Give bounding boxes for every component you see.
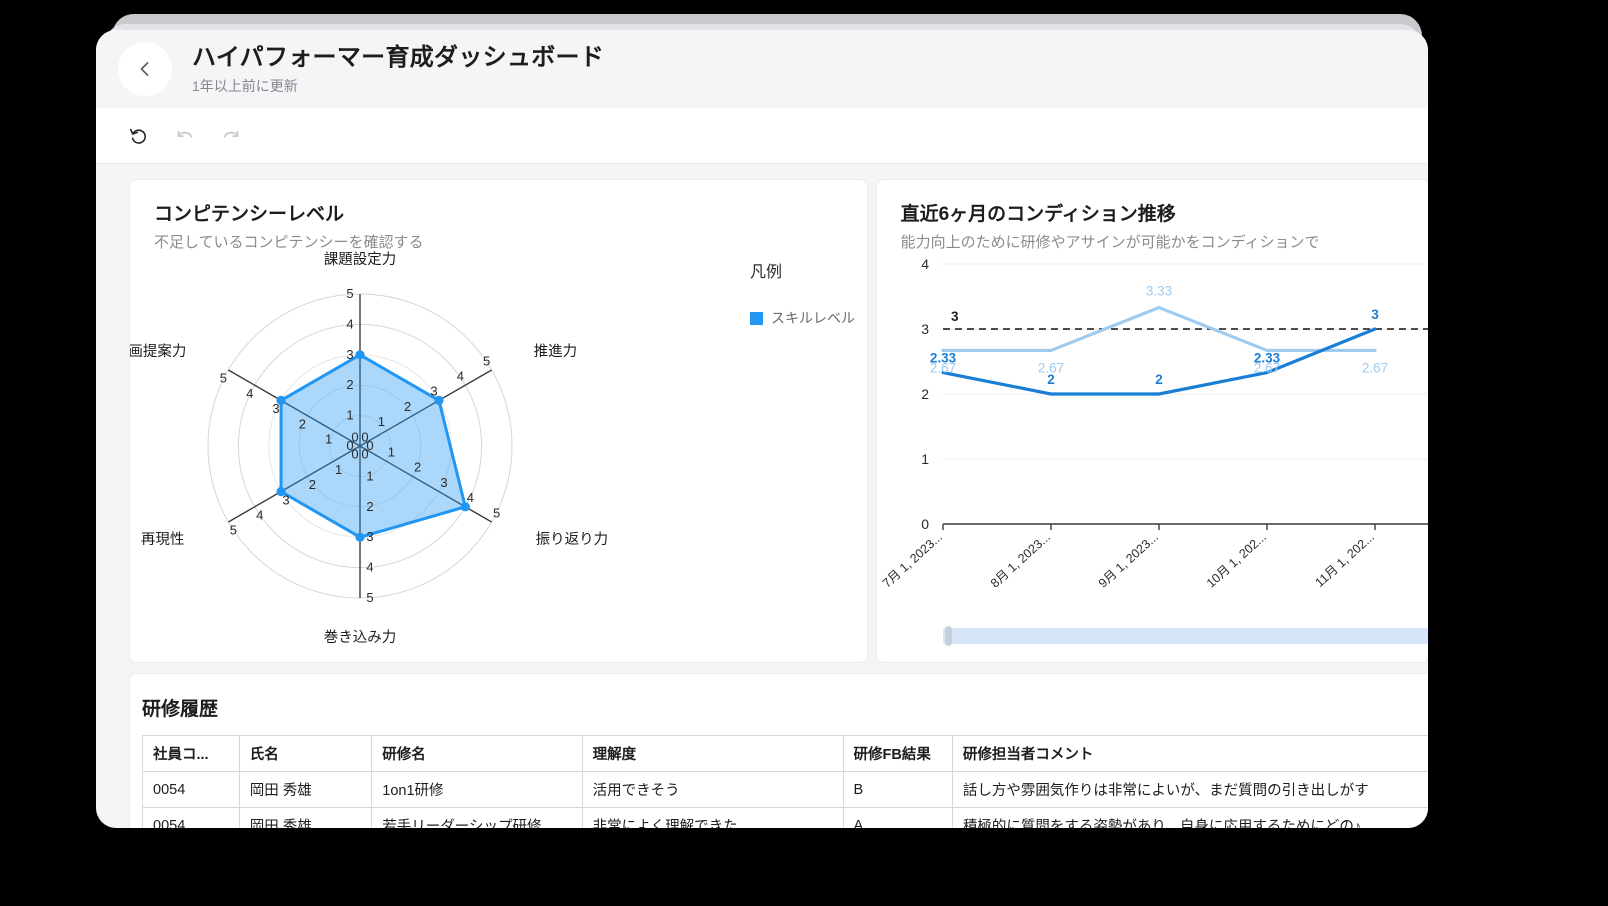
svg-text:3.33: 3.33 xyxy=(1145,284,1171,299)
radar-legend: 凡例 スキルレベル xyxy=(750,258,880,328)
editor-toolbar xyxy=(96,108,1428,164)
svg-text:2: 2 xyxy=(309,477,316,492)
table-body: 0054岡田 秀雄1on1研修活用できそうB話し方や雰囲気作りは非常によいが、ま… xyxy=(143,772,1429,829)
svg-text:振り返り力: 振り返り力 xyxy=(536,531,609,548)
svg-text:4: 4 xyxy=(256,507,263,522)
svg-text:5: 5 xyxy=(230,523,237,538)
table-header-cell-5[interactable]: 研修担当者コメント xyxy=(952,736,1428,772)
charts-row: コンピテンシーレベル 不足しているコンピテンシーを確認する 0123450123… xyxy=(130,180,1428,662)
table-cell: 積極的に質問をする姿勢があり、自身に応用するためにどの♪ xyxy=(952,808,1428,829)
competency-radar-card: コンピテンシーレベル 不足しているコンピテンシーを確認する 0123450123… xyxy=(130,180,867,662)
training-history-table: 社員コ...氏名研修名理解度研修FB結果研修担当者コメント 0054岡田 秀雄1… xyxy=(142,735,1428,828)
svg-text:1: 1 xyxy=(366,468,373,483)
svg-text:課題設定力: 課題設定力 xyxy=(324,251,397,268)
svg-text:5: 5 xyxy=(493,505,500,520)
legend-item-skill-level[interactable]: スキルレベル xyxy=(750,308,880,328)
svg-text:1: 1 xyxy=(325,431,332,446)
svg-text:1: 1 xyxy=(388,445,395,460)
svg-text:4: 4 xyxy=(346,316,353,331)
svg-text:3: 3 xyxy=(282,492,289,507)
svg-text:1: 1 xyxy=(346,408,353,423)
table-head: 社員コ...氏名研修名理解度研修FB結果研修担当者コメント xyxy=(143,736,1429,772)
radar-chart[interactable]: 012345012345012345012345012345012345課題設定… xyxy=(130,246,750,646)
line-chart[interactable]: 0123432.672.673.332.672.672.33222.3337月 … xyxy=(877,252,1428,662)
table-header-row: 社員コ...氏名研修名理解度研修FB結果研修担当者コメント xyxy=(143,736,1429,772)
table-header-cell-0[interactable]: 社員コ... xyxy=(143,736,240,772)
svg-text:8月 1, 2023...: 8月 1, 2023... xyxy=(987,530,1052,591)
svg-text:0: 0 xyxy=(361,447,368,462)
table-cell: B xyxy=(843,772,952,808)
svg-text:3: 3 xyxy=(430,384,437,399)
svg-text:2: 2 xyxy=(414,460,421,475)
table-card-title: 研修履歴 xyxy=(130,694,1428,735)
svg-text:巻き込み力: 巻き込み力 xyxy=(324,629,397,646)
table-cell: 1on1研修 xyxy=(372,772,582,808)
svg-text:4: 4 xyxy=(921,256,929,272)
reset-button[interactable] xyxy=(126,123,152,149)
table-cell: 若手リーダーシップ研修 xyxy=(372,808,582,829)
chevron-left-icon xyxy=(135,59,155,79)
undo-button[interactable] xyxy=(172,123,198,149)
table-header-cell-4[interactable]: 研修FB結果 xyxy=(843,736,952,772)
svg-text:4: 4 xyxy=(366,560,373,575)
svg-text:3: 3 xyxy=(272,401,279,416)
svg-text:2: 2 xyxy=(1155,372,1163,387)
table-cell: 0054 xyxy=(143,808,240,829)
svg-text:3: 3 xyxy=(1371,307,1379,322)
table-cell: 話し方や雰囲気作りは非常によいが、まだ質問の引き出しがす xyxy=(952,772,1428,808)
svg-text:1: 1 xyxy=(378,414,385,429)
line-card-subtitle: 能力向上のために研修やアサインが可能かをコンディションで xyxy=(877,228,1428,254)
redo-arrow-icon xyxy=(220,125,242,147)
svg-text:5: 5 xyxy=(483,353,490,368)
svg-text:推進力: 推進力 xyxy=(534,343,578,360)
training-history-card: 研修履歴 社員コ...氏名研修名理解度研修FB結果研修担当者コメント 0054岡… xyxy=(130,674,1428,828)
svg-text:0: 0 xyxy=(921,516,929,532)
svg-text:2: 2 xyxy=(921,386,929,402)
svg-text:2.33: 2.33 xyxy=(929,351,956,366)
svg-text:4: 4 xyxy=(246,386,253,401)
time-range-slider[interactable] xyxy=(943,628,1428,644)
svg-text:1: 1 xyxy=(335,462,342,477)
radar-svg: 012345012345012345012345012345012345課題設定… xyxy=(130,246,750,646)
dashboard-body: コンピテンシーレベル 不足しているコンピテンシーを確認する 0123450123… xyxy=(96,164,1428,828)
svg-text:2: 2 xyxy=(299,416,306,431)
table-row[interactable]: 0054岡田 秀雄若手リーダーシップ研修非常によく理解できたA積極的に質問をする… xyxy=(143,808,1429,829)
svg-text:3: 3 xyxy=(366,529,373,544)
svg-text:10月 1, 202...: 10月 1, 202... xyxy=(1203,530,1268,591)
legend-color-swatch xyxy=(750,312,763,325)
table-cell: 岡田 秀雄 xyxy=(239,772,372,808)
svg-text:9月 1, 2023...: 9月 1, 2023... xyxy=(1095,530,1160,591)
table-cell: A xyxy=(843,808,952,829)
svg-text:5: 5 xyxy=(346,286,353,301)
svg-text:2: 2 xyxy=(404,399,411,414)
table-header-cell-1[interactable]: 氏名 xyxy=(239,736,372,772)
redo-button[interactable] xyxy=(218,123,244,149)
svg-text:3: 3 xyxy=(440,475,447,490)
line-svg: 0123432.672.673.332.672.672.33222.3337月 … xyxy=(877,252,1428,652)
svg-text:3: 3 xyxy=(921,321,929,337)
svg-text:7月 1, 2023...: 7月 1, 2023... xyxy=(879,530,944,591)
dashboard-window: ハイパフォーマー育成ダッシュボード 1年以上前に更新 xyxy=(96,30,1428,828)
page-subtitle: 1年以上前に更新 xyxy=(192,77,604,95)
page-title: ハイパフォーマー育成ダッシュボード xyxy=(192,43,604,73)
condition-trend-card: 直近6ヶ月のコンディション推移 能力向上のために研修やアサインが可能かをコンディ… xyxy=(877,180,1428,662)
table-cell: 非常によく理解できた xyxy=(582,808,843,829)
svg-text:2.33: 2.33 xyxy=(1253,351,1280,366)
svg-text:5: 5 xyxy=(220,371,227,386)
svg-text:企画提案力: 企画提案力 xyxy=(130,342,186,360)
svg-text:11月 1, 202...: 11月 1, 202... xyxy=(1312,530,1376,590)
back-button[interactable] xyxy=(118,42,172,96)
line-card-title: 直近6ヶ月のコンディション推移 xyxy=(877,202,1428,228)
svg-text:2: 2 xyxy=(366,499,373,514)
header-text-block: ハイパフォーマー育成ダッシュボード 1年以上前に更新 xyxy=(192,43,604,95)
svg-text:4: 4 xyxy=(457,369,464,384)
undo-arrow-icon xyxy=(174,125,196,147)
legend-item-label: スキルレベル xyxy=(771,308,855,328)
reset-rotate-icon xyxy=(128,125,150,147)
svg-text:2: 2 xyxy=(346,377,353,392)
table-header-cell-3[interactable]: 理解度 xyxy=(582,736,843,772)
table-cell: 活用できそう xyxy=(582,772,843,808)
screen-root: ハイパフォーマー育成ダッシュボード 1年以上前に更新 xyxy=(0,0,1608,906)
svg-text:3: 3 xyxy=(951,309,959,324)
table-row[interactable]: 0054岡田 秀雄1on1研修活用できそうB話し方や雰囲気作りは非常によいが、ま… xyxy=(143,772,1429,808)
svg-text:2.67: 2.67 xyxy=(1361,360,1387,375)
svg-text:0: 0 xyxy=(351,429,358,444)
svg-text:1: 1 xyxy=(921,451,929,467)
svg-text:5: 5 xyxy=(366,590,373,605)
svg-text:3: 3 xyxy=(346,347,353,362)
svg-text:2: 2 xyxy=(1047,372,1055,387)
svg-text:再現性: 再現性 xyxy=(141,531,185,548)
slider-handle-left[interactable] xyxy=(945,626,952,646)
table-header-cell-2[interactable]: 研修名 xyxy=(372,736,582,772)
legend-title: 凡例 xyxy=(750,258,880,282)
radar-card-title: コンピテンシーレベル xyxy=(130,202,867,228)
table-cell: 0054 xyxy=(143,772,240,808)
svg-text:4: 4 xyxy=(467,490,474,505)
table-cell: 岡田 秀雄 xyxy=(239,808,372,829)
svg-text:0: 0 xyxy=(351,447,358,462)
page-header: ハイパフォーマー育成ダッシュボード 1年以上前に更新 xyxy=(96,30,1428,108)
